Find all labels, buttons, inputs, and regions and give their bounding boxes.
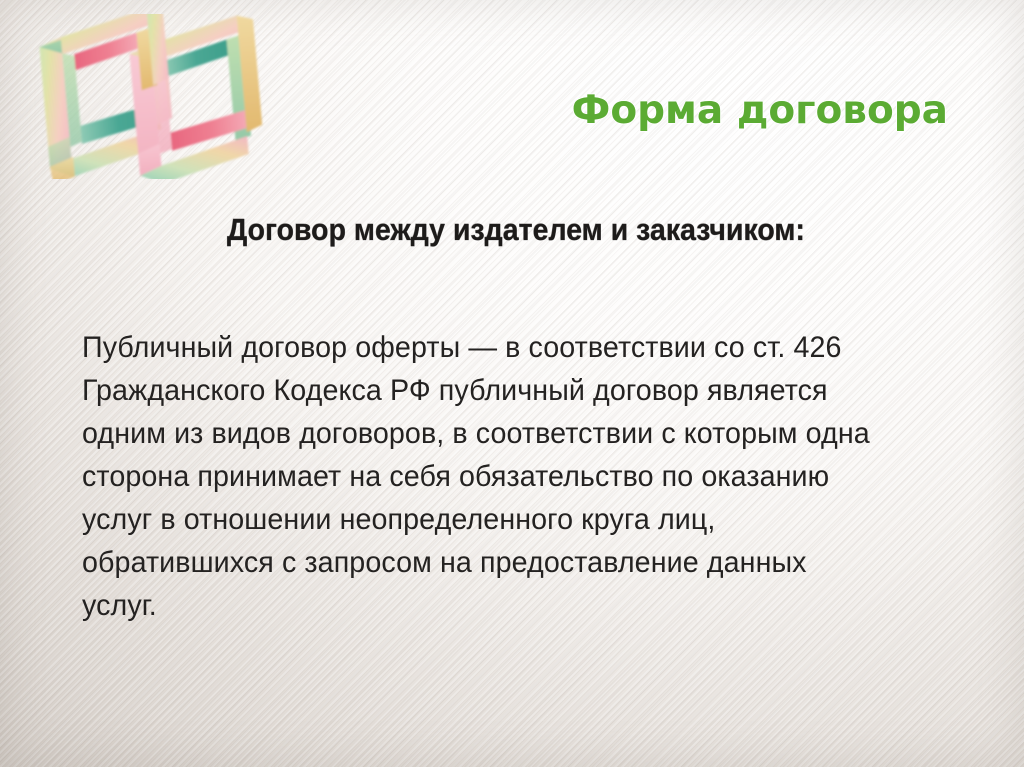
presentation-slide: Форма договора Договор между издателем и… — [0, 0, 1024, 767]
slide-title: Форма договора — [300, 88, 948, 134]
interlocking-squares-logo-icon — [26, 14, 276, 179]
slide-body-paragraph: Публичный договор оферты — в соответстви… — [82, 326, 882, 627]
slide-subtitle: Договор между издателем и заказчиком: — [98, 211, 933, 249]
